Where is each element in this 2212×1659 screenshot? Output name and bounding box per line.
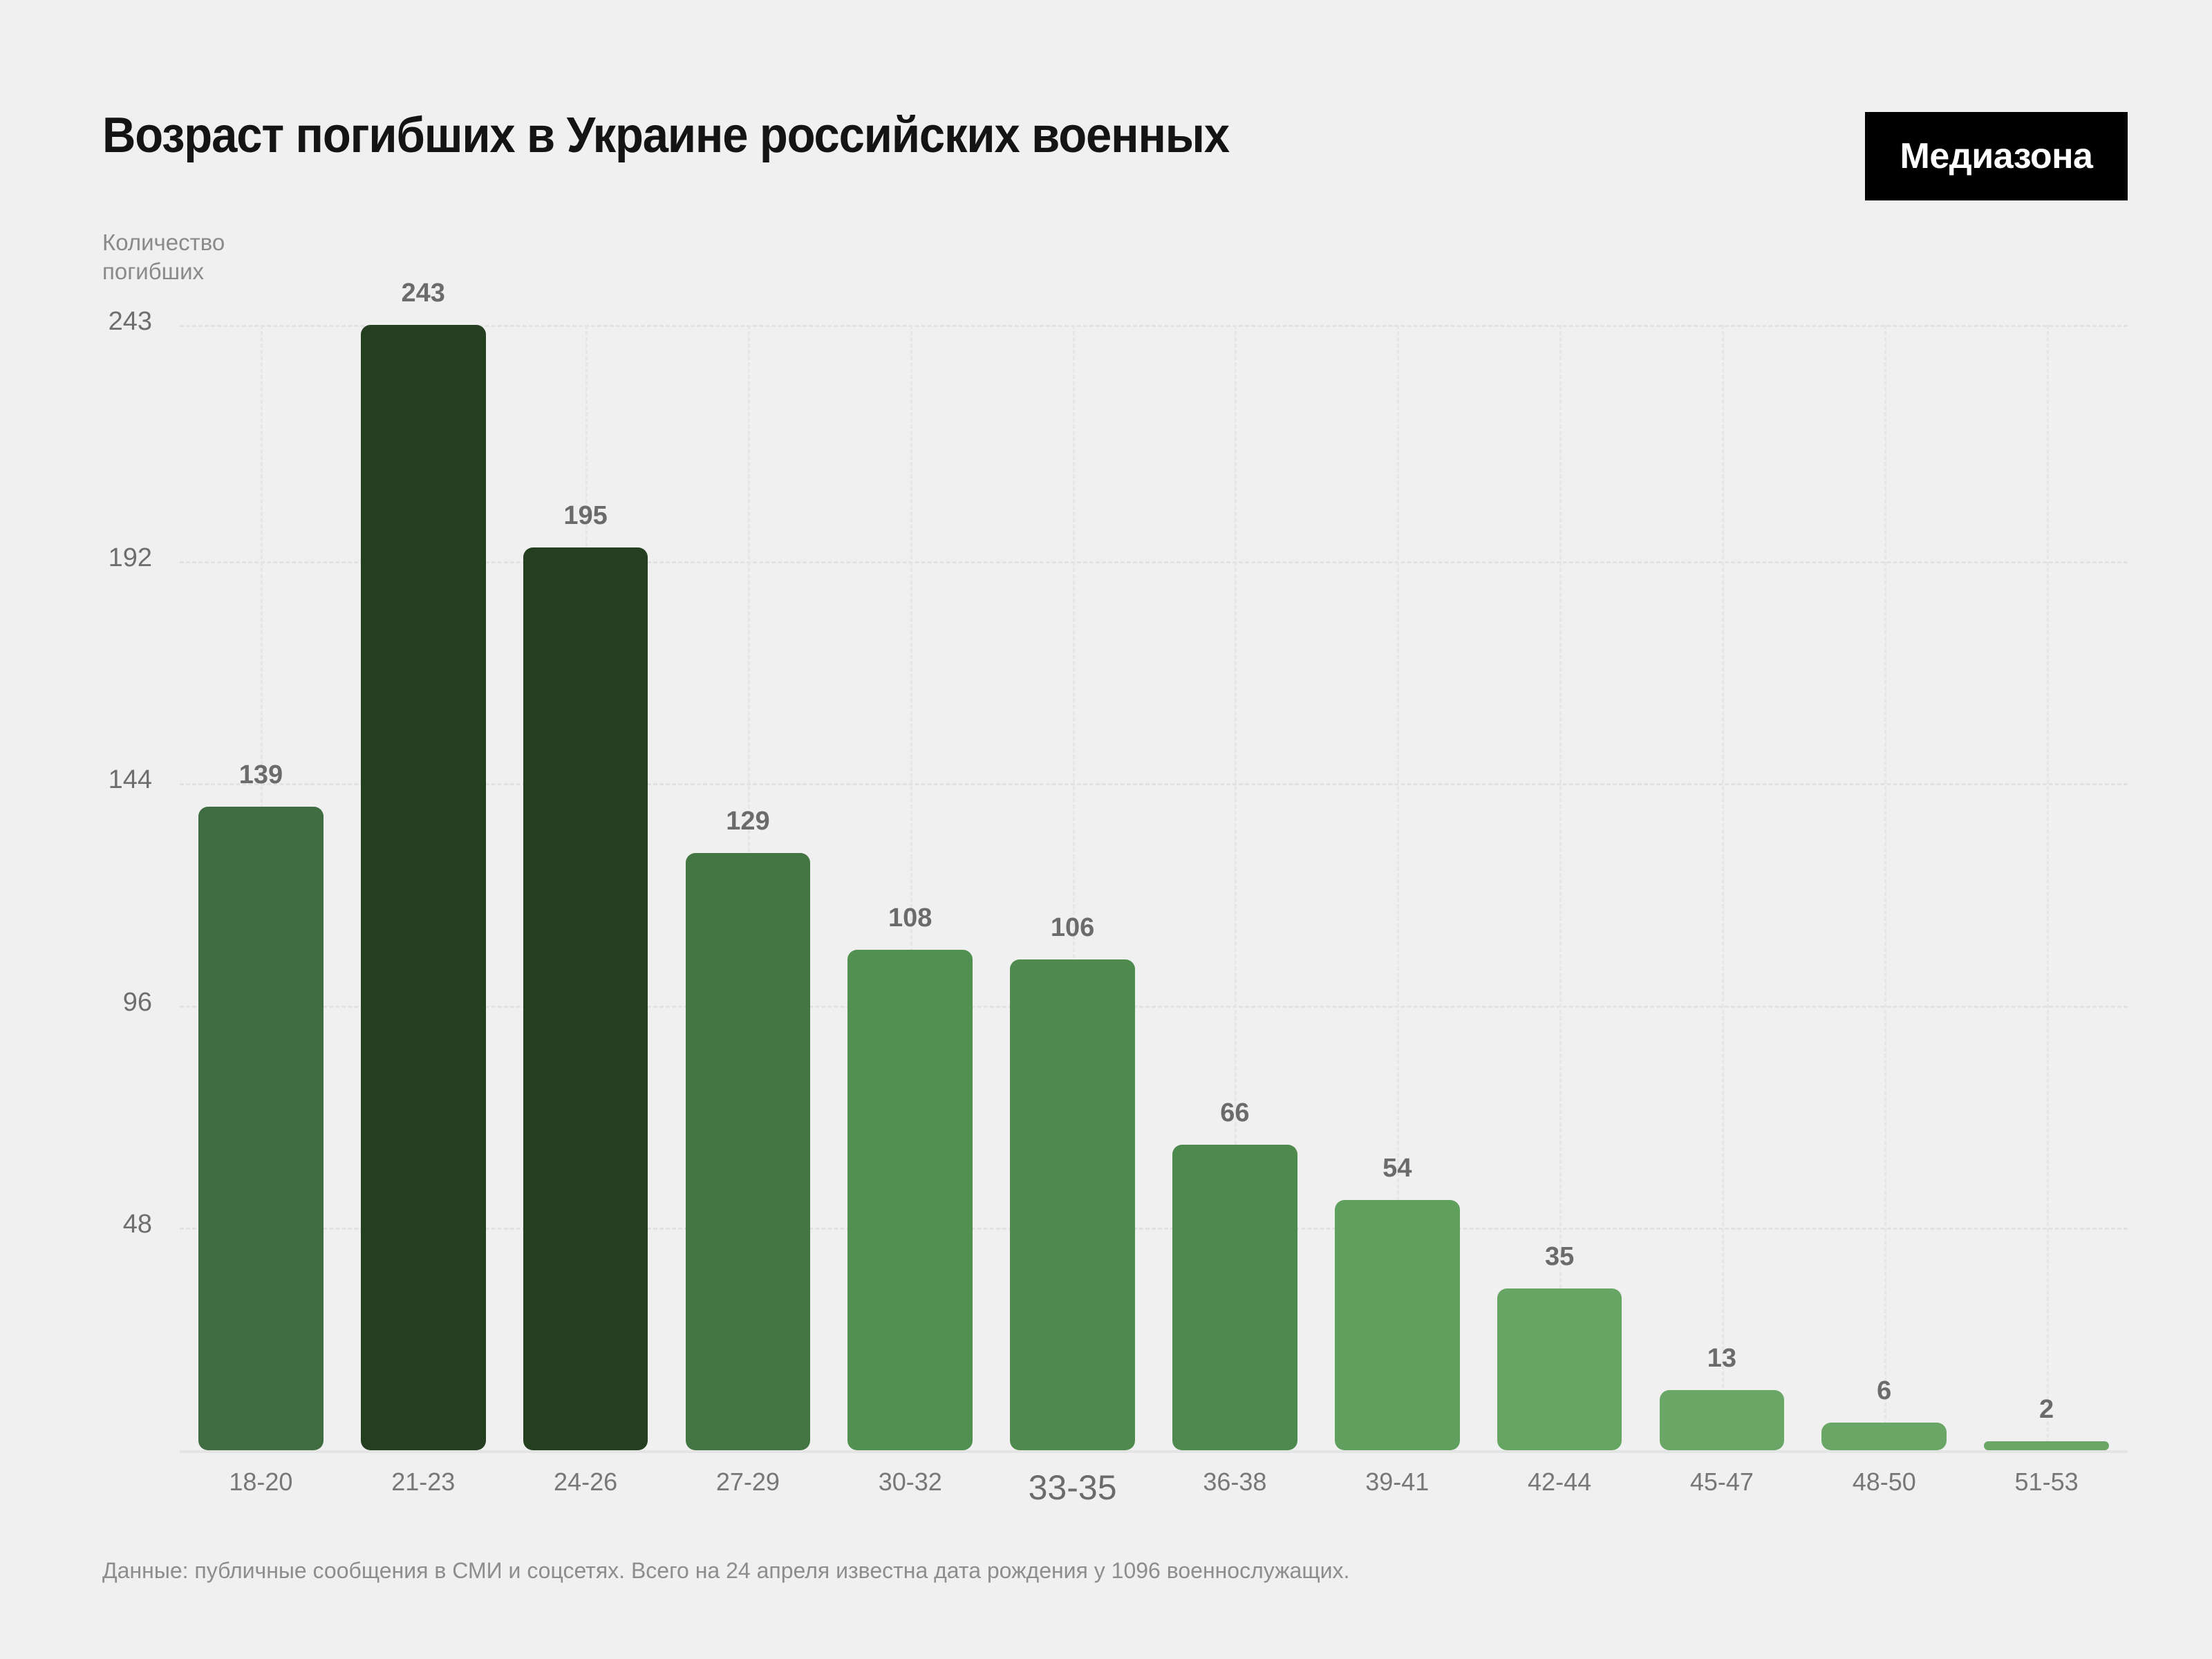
- bar[interactable]: [1984, 1441, 2109, 1450]
- x-axis-category-label[interactable]: 18-20: [180, 1468, 342, 1497]
- y-axis-tick-label: 96: [41, 988, 152, 1018]
- bar[interactable]: [686, 853, 811, 1450]
- bar-value-label: 66: [1172, 1098, 1297, 1128]
- bar[interactable]: [361, 325, 486, 1450]
- bar-value-label: 108: [847, 903, 973, 933]
- bar-value-label: 13: [1660, 1344, 1785, 1374]
- bar-column[interactable]: 139: [198, 325, 324, 1450]
- x-axis-category-label[interactable]: 45-47: [1641, 1468, 1803, 1497]
- footer-divider: [0, 1545, 2212, 1546]
- bar-column[interactable]: 6: [1821, 325, 1947, 1450]
- x-axis-category-label[interactable]: 30-32: [829, 1468, 991, 1497]
- bar-value-label: 139: [198, 760, 324, 790]
- bar-value-label: 35: [1497, 1242, 1622, 1272]
- bar-value-label: 106: [1010, 913, 1135, 943]
- bar-column[interactable]: 2: [1984, 325, 2109, 1450]
- bar-column[interactable]: 195: [523, 325, 648, 1450]
- x-axis-category-label[interactable]: 51-53: [1965, 1468, 2128, 1497]
- y-axis-tick-label: 243: [41, 307, 152, 337]
- bar[interactable]: [847, 950, 973, 1450]
- bar-column[interactable]: 129: [686, 325, 811, 1450]
- bar-column[interactable]: 243: [361, 325, 486, 1450]
- x-axis-category-label[interactable]: 33-35: [991, 1468, 1154, 1508]
- y-axis-tick-label: 48: [41, 1210, 152, 1239]
- bar-value-label: 129: [686, 807, 811, 836]
- bar-column[interactable]: 35: [1497, 325, 1622, 1450]
- x-axis-category-label[interactable]: 24-26: [505, 1468, 667, 1497]
- bar[interactable]: [1660, 1390, 1785, 1450]
- bar-column[interactable]: 66: [1172, 325, 1297, 1450]
- bar-value-label: 2: [1984, 1395, 2109, 1425]
- plot-area: 1392431951291081066654351362: [180, 325, 2128, 1450]
- x-axis-category-label[interactable]: 39-41: [1316, 1468, 1479, 1497]
- bar[interactable]: [1497, 1288, 1622, 1450]
- x-axis-category-label[interactable]: 42-44: [1479, 1468, 1641, 1497]
- x-axis-category-label[interactable]: 36-38: [1154, 1468, 1316, 1497]
- bar[interactable]: [198, 807, 324, 1450]
- bar[interactable]: [1821, 1423, 1947, 1450]
- axis-baseline: [180, 1450, 2128, 1453]
- bar[interactable]: [1010, 959, 1135, 1450]
- y-axis-tick-label: 144: [41, 765, 152, 795]
- bar-column[interactable]: 108: [847, 325, 973, 1450]
- bar[interactable]: [1335, 1200, 1460, 1450]
- bar-column[interactable]: 106: [1010, 325, 1135, 1450]
- x-axis-category-label[interactable]: 21-23: [342, 1468, 505, 1497]
- bar[interactable]: [1172, 1145, 1297, 1450]
- bar-value-label: 195: [523, 501, 648, 531]
- bar-value-label: 243: [361, 279, 486, 308]
- footer-source-note: Данные: публичные сообщения в СМИ и соцс…: [102, 1557, 1349, 1586]
- bar-column[interactable]: 13: [1660, 325, 1785, 1450]
- y-axis-tick-label: 192: [41, 543, 152, 573]
- bar-column[interactable]: 54: [1335, 325, 1460, 1450]
- x-axis-category-label[interactable]: 27-29: [667, 1468, 829, 1497]
- bar-value-label: 6: [1821, 1376, 1947, 1406]
- bar[interactable]: [523, 547, 648, 1450]
- bar-value-label: 54: [1335, 1154, 1460, 1183]
- x-axis-category-label[interactable]: 48-50: [1803, 1468, 1965, 1497]
- bar-chart: 1392431951291081066654351362 24319214496…: [0, 0, 2212, 1659]
